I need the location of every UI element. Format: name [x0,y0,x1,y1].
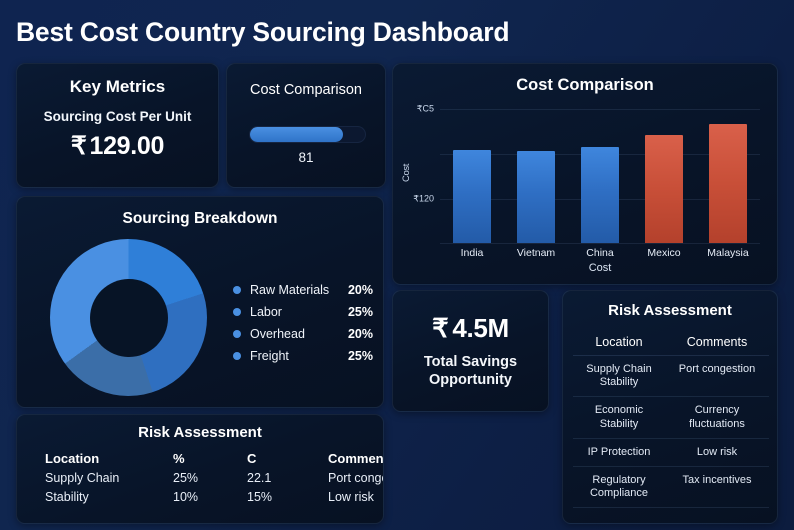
legend-label: Raw Materials [250,283,348,297]
total-savings-card: ₹4.5M Total Savings Opportunity [392,290,549,412]
table-row[interactable]: Supply Chain StabilityPort congestion [573,356,769,397]
table-cell: 25% [173,466,247,485]
cost-progress-title: Cost Comparison [227,82,385,98]
progress-bar-value: 81 [227,150,385,165]
table-row[interactable]: Economic StabilityCurrency fluctuations [573,397,769,438]
table-row[interactable]: IP ProtectionLow risk [573,439,769,467]
key-metrics-value: ₹129.00 [17,131,218,161]
table-row[interactable]: Supply Chain25%22.1Port congestion [45,466,384,485]
y-axis-tick: ₹C5 [417,104,434,115]
chart-bar[interactable] [453,150,491,243]
column-header: Location [45,451,173,466]
dashboard-root: Best Cost Country Sourcing Dashboard Key… [0,0,794,530]
bar-chart-y-axis-label: Cost [401,164,412,182]
table-cell: Regulatory Compliance [573,467,665,507]
column-header: Comments [328,451,384,466]
cost-comparison-progress-card: Cost Comparison 81 [226,63,386,188]
chart-bar[interactable] [709,124,747,243]
table-cell: Low risk [328,485,384,504]
page-title: Best Cost Country Sourcing Dashboard [16,17,509,48]
risk-bottom-title: Risk Assessment [17,424,383,441]
table-cell: Low risk [665,439,769,466]
x-axis-tick: China [586,247,613,259]
donut-title: Sourcing Breakdown [17,210,383,228]
legend-label: Freight [250,349,348,363]
chart-bar[interactable] [581,147,619,243]
donut-legend-item[interactable]: Labor25% [233,301,373,323]
table-cell: Stability [45,485,173,504]
chart-gridline: ₹C5 [440,109,760,110]
rupee-icon: ₹ [71,132,87,160]
table-cell: 15% [247,485,328,504]
x-axis-tick: Mexico [647,247,680,259]
bar-chart-title: Cost Comparison [393,76,777,95]
donut-hole [90,279,168,357]
chart-gridline: ₹140 [440,243,760,244]
sourcing-breakdown-card: Sourcing Breakdown Raw Materials20%Labor… [16,196,384,408]
y-axis-tick: ₹120 [413,193,434,204]
table-header-row: LocationComments [573,335,769,356]
table-header-row: Location%CComments [45,451,384,466]
legend-dot-icon [233,352,241,360]
key-metrics-number: 129.00 [89,132,164,160]
donut-legend-item[interactable]: Freight25% [233,345,373,367]
column-header: Location [573,335,665,349]
donut-legend-item[interactable]: Overhead20% [233,323,373,345]
table-cell: Tax incentives [665,467,769,507]
key-metrics-title: Key Metrics [17,77,218,97]
table-cell: Port congestion [328,466,384,485]
table-cell: IP Protection [573,439,665,466]
risk-assessment-bottom-card: Risk Assessment Location%CCommentsSupply… [16,414,384,524]
table-cell: Currency fluctuations [665,397,769,437]
risk-bottom-table: Location%CCommentsSupply Chain25%22.1Por… [45,451,384,504]
bar-chart-x-axis-label: Cost [440,262,760,274]
column-header: C [247,451,328,466]
table-cell: Port congestion [665,356,769,396]
legend-label: Labor [250,305,348,319]
legend-percent: 25% [348,305,373,319]
savings-label-line1: Total Savings [393,353,548,371]
bar-chart-plot-area: ₹C5₹120₹135₹140IndiaVietnamChinaMexicoMa… [440,109,760,243]
donut-chart [50,239,207,396]
legend-dot-icon [233,286,241,294]
legend-dot-icon [233,330,241,338]
legend-percent: 20% [348,283,373,297]
key-metrics-card: Key Metrics Sourcing Cost Per Unit ₹129.… [16,63,219,188]
legend-percent: 20% [348,327,373,341]
table-cell: 10% [173,485,247,504]
x-axis-tick: Vietnam [517,247,555,259]
table-row[interactable]: Stability10%15%Low risk [45,485,384,504]
table-cell: 22.1 [247,466,328,485]
legend-percent: 25% [348,349,373,363]
savings-label: Total Savings Opportunity [393,353,548,389]
savings-label-line2: Opportunity [393,371,548,389]
y-axis-tick: ₹135 [413,283,434,285]
rupee-icon: ₹ [432,313,448,343]
risk-assessment-right-card: Risk Assessment LocationCommentsSupply C… [562,290,778,524]
key-metrics-label: Sourcing Cost Per Unit [17,109,218,124]
progress-bar-track[interactable] [249,126,366,143]
table-cell: Supply Chain [45,466,173,485]
x-axis-tick: India [461,247,484,259]
table-cell: Supply Chain Stability [573,356,665,396]
progress-bar-fill [250,127,343,142]
table-cell: Economic Stability [573,397,665,437]
column-header: Comments [665,335,769,349]
legend-dot-icon [233,308,241,316]
donut-legend: Raw Materials20%Labor25%Overhead20%Freig… [233,279,373,367]
x-axis-tick: Malaysia [707,247,748,259]
donut-legend-item[interactable]: Raw Materials20% [233,279,373,301]
chart-bar[interactable] [517,151,555,243]
cost-comparison-chart-card: Cost Comparison Cost ₹C5₹120₹135₹140Indi… [392,63,778,285]
savings-value: ₹4.5M [393,313,548,344]
savings-number: 4.5M [452,313,509,343]
risk-right-table: LocationCommentsSupply Chain StabilityPo… [573,335,769,508]
legend-label: Overhead [250,327,348,341]
column-header: % [173,451,247,466]
risk-right-title: Risk Assessment [563,302,777,319]
chart-bar[interactable] [645,135,683,243]
table-row[interactable]: Regulatory ComplianceTax incentives [573,467,769,508]
